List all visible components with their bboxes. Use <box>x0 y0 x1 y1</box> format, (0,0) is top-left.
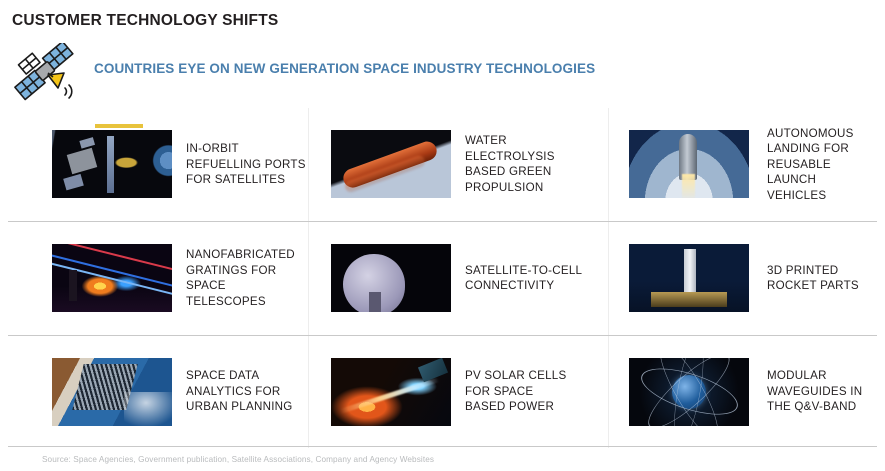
card-thumbnail <box>331 358 451 426</box>
tech-card[interactable]: MODULAR WAVEGUIDES IN THE Q&V-BAND <box>608 336 877 448</box>
tech-card[interactable]: PV SOLAR CELLS FOR SPACE BASED POWER <box>308 336 608 448</box>
subtitle-text: COUNTRIES EYE ON NEW GENERATION SPACE IN… <box>94 61 595 76</box>
technology-grid: IN-ORBIT REFUELLING PORTS FOR SATELLITES… <box>8 108 877 446</box>
card-label: SATELLITE-TO-CELL CONNECTIVITY <box>465 263 582 294</box>
card-thumbnail <box>629 244 749 312</box>
grid-row: SPACE DATA ANALYTICS FOR URBAN PLANNING … <box>8 335 877 448</box>
source-note: Source: Space Agencies, Government publi… <box>42 455 434 464</box>
card-thumbnail <box>331 244 451 312</box>
grid-row: IN-ORBIT REFUELLING PORTS FOR SATELLITES… <box>8 108 877 221</box>
tech-card[interactable]: AUTONOMOUS LANDING FOR REUSABLE LAUNCH V… <box>608 108 877 221</box>
card-label: NANOFABRICATED GRATINGS FOR SPACE TELESC… <box>186 247 295 309</box>
card-thumbnail <box>331 130 451 198</box>
footer-divider <box>8 446 877 447</box>
satellite-icon <box>8 43 86 105</box>
card-label: PV SOLAR CELLS FOR SPACE BASED POWER <box>465 368 566 415</box>
card-thumbnail <box>52 130 172 198</box>
page-title: CUSTOMER TECHNOLOGY SHIFTS <box>12 12 278 30</box>
card-label: IN-ORBIT REFUELLING PORTS FOR SATELLITES <box>186 141 306 188</box>
card-thumbnail <box>629 130 749 198</box>
tech-card[interactable]: 3D PRINTED ROCKET PARTS <box>608 222 877 335</box>
tech-card[interactable]: IN-ORBIT REFUELLING PORTS FOR SATELLITES <box>8 108 308 221</box>
tech-card[interactable]: SATELLITE-TO-CELL CONNECTIVITY <box>308 222 608 335</box>
tech-card[interactable]: WATER ELECTROLYSIS BASED GREEN PROPULSIO… <box>308 108 608 221</box>
card-thumbnail <box>629 358 749 426</box>
subtitle-block: COUNTRIES EYE ON NEW GENERATION SPACE IN… <box>0 40 885 106</box>
card-label: AUTONOMOUS LANDING FOR REUSABLE LAUNCH V… <box>767 126 877 204</box>
card-label: SPACE DATA ANALYTICS FOR URBAN PLANNING <box>186 368 293 415</box>
card-label: MODULAR WAVEGUIDES IN THE Q&V-BAND <box>767 368 862 415</box>
card-label: 3D PRINTED ROCKET PARTS <box>767 263 859 294</box>
grid-row: NANOFABRICATED GRATINGS FOR SPACE TELESC… <box>8 221 877 335</box>
card-thumbnail <box>52 244 172 312</box>
card-thumbnail <box>52 358 172 426</box>
card-label: WATER ELECTROLYSIS BASED GREEN PROPULSIO… <box>465 133 555 195</box>
tech-card[interactable]: SPACE DATA ANALYTICS FOR URBAN PLANNING <box>8 336 308 448</box>
tech-card[interactable]: NANOFABRICATED GRATINGS FOR SPACE TELESC… <box>8 222 308 335</box>
